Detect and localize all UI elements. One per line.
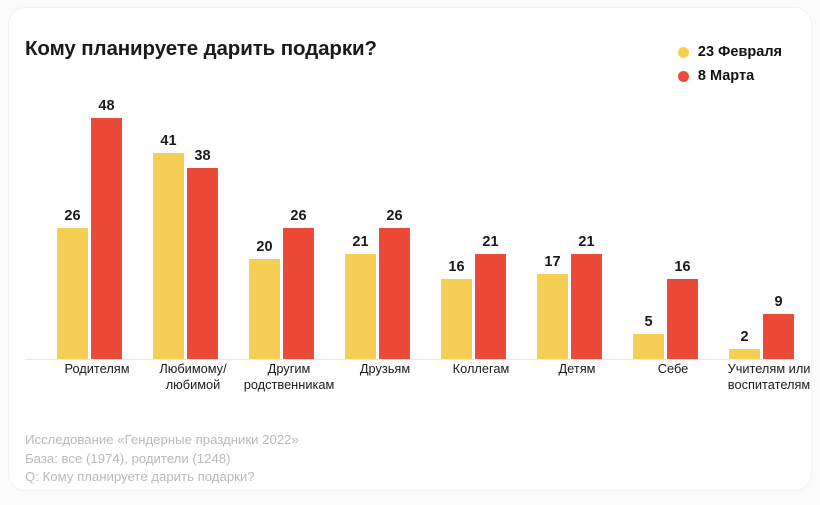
bar-group: 1721 [529,118,625,359]
bar-value-label: 20 [256,239,272,255]
bar-value-label: 26 [386,208,402,224]
bar-value-label: 16 [448,259,464,275]
x-axis-labels: РодителямЛюбимому/любимойДругимродственн… [25,361,795,407]
bar-value-label: 21 [352,234,368,250]
chart-page: Кому планируете дарить подарки? 23 Февра… [0,0,820,505]
bar-group: 2126 [337,118,433,359]
footnote-line-1: Исследование «Гендерные праздники 2022» [25,431,299,450]
bar-series-1[interactable]: 5 [633,334,664,359]
chart-footnote: Исследование «Гендерные праздники 2022» … [25,431,299,487]
bar-series-1[interactable]: 26 [57,228,88,359]
bar-series-1[interactable]: 2 [729,349,760,359]
bar-value-label: 17 [544,254,560,270]
bar-group: 29 [721,118,817,359]
legend-item-23-february[interactable]: 23 Февраля [678,44,782,60]
legend-dot-icon [678,71,689,82]
x-axis-tick-label: Учителям иливоспитателям [714,361,820,392]
bar-series-1[interactable]: 21 [345,254,376,359]
bar-value-label: 21 [482,234,498,250]
bar-value-label: 9 [774,294,782,310]
bar-value-label: 41 [160,133,176,149]
bar-value-label: 16 [674,259,690,275]
bar-series-2[interactable]: 21 [571,254,602,359]
chart-card: Кому планируете дарить подарки? 23 Февра… [9,8,811,490]
bar-series-1[interactable]: 20 [249,259,280,359]
bar-series-2[interactable]: 26 [379,228,410,359]
bar-series-1[interactable]: 17 [537,274,568,359]
bar-value-label: 26 [64,208,80,224]
page-title: Кому планируете дарить подарки? [25,37,377,61]
x-axis-line [25,359,795,360]
x-axis-tick-label: Родителям [42,361,152,377]
bar-group: 1621 [433,118,529,359]
bar-series-2[interactable]: 16 [667,279,698,359]
chart-legend: 23 Февраля 8 Марта [678,44,782,84]
footnote-line-2: База: все (1974), родители (1248) [25,450,299,469]
x-axis-tick-label: Детям [522,361,632,377]
x-axis-tick-label: Любимому/любимой [138,361,248,392]
footnote-line-3: Q: Кому планируете дарить подарки? [25,468,299,487]
x-axis-tick-label: Другимродственникам [234,361,344,392]
bar-value-label: 48 [98,98,114,114]
bar-group: 2648 [49,118,145,359]
bar-value-label: 2 [740,329,748,345]
bar-value-label: 21 [578,234,594,250]
bar-series-2[interactable]: 38 [187,168,218,359]
bar-value-label: 5 [644,314,652,330]
x-axis-tick-label: Себе [618,361,728,377]
bar-series-1[interactable]: 16 [441,279,472,359]
legend-item-label: 23 Февраля [698,44,782,60]
bar-group: 4138 [145,118,241,359]
legend-item-label: 8 Марта [698,68,754,84]
bar-series-2[interactable]: 21 [475,254,506,359]
legend-dot-icon [678,47,689,58]
x-axis-tick-label: Друзьям [330,361,440,377]
bar-value-label: 38 [194,148,210,164]
bar-plot-area: 26484138202621261621172151629 [25,108,795,360]
x-axis-tick-label: Коллегам [426,361,536,377]
legend-item-8-march[interactable]: 8 Марта [678,68,782,84]
bar-group: 516 [625,118,721,359]
bar-series-2[interactable]: 48 [91,118,122,359]
bar-series-2[interactable]: 9 [763,314,794,359]
bar-series-2[interactable]: 26 [283,228,314,359]
bar-group: 2026 [241,118,337,359]
bar-series-1[interactable]: 41 [153,153,184,359]
bar-value-label: 26 [290,208,306,224]
